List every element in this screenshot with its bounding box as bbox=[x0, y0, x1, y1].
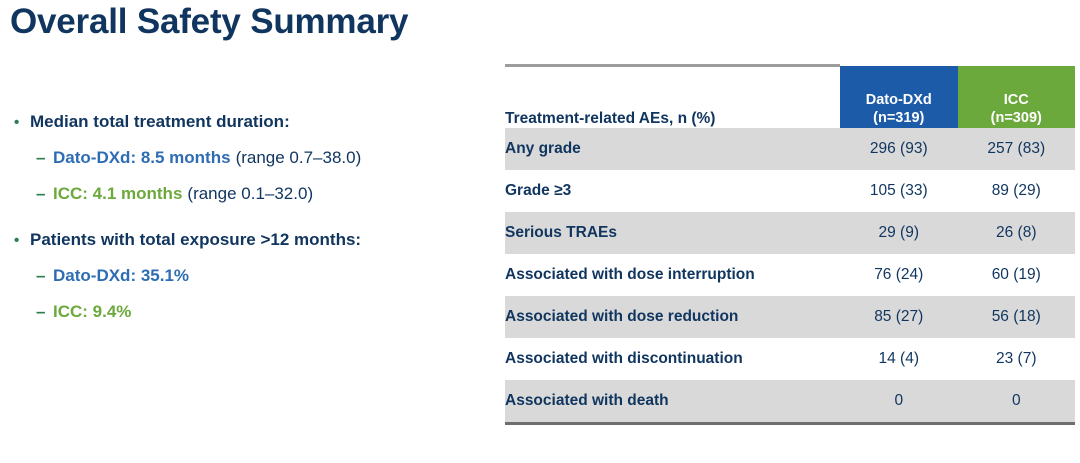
table-row: Serious TRAEs29 (9)26 (8) bbox=[505, 212, 1075, 254]
bullet-dot-icon: • bbox=[14, 233, 30, 248]
table-row: Any grade296 (93)257 (83) bbox=[505, 128, 1075, 170]
cell-dato-dxd: 14 (4) bbox=[840, 338, 958, 380]
sub-bullet-label: ICC: 9.4% bbox=[53, 302, 131, 322]
sub-bullet-dash-icon: – bbox=[36, 266, 53, 286]
row-label: Associated with death bbox=[505, 380, 840, 424]
cell-icc: 23 (7) bbox=[958, 338, 1076, 380]
treatment-related-ae-table: Treatment-related AEs, n (%) Dato-DXd (n… bbox=[505, 64, 1075, 425]
table-row: Associated with discontinuation14 (4)23 … bbox=[505, 338, 1075, 380]
row-label: Associated with dose interruption bbox=[505, 254, 840, 296]
summary-bullet-list: •Median total treatment duration:–Dato-D… bbox=[14, 112, 484, 322]
sub-bullet-item: –ICC: 9.4% bbox=[36, 302, 484, 322]
table-row: Associated with death00 bbox=[505, 380, 1075, 424]
sub-bullet-item: –ICC: 4.1 months(range 0.1–32.0) bbox=[36, 184, 484, 204]
bullet-group: •Patients with total exposure >12 months… bbox=[14, 230, 484, 322]
table-row: Associated with dose interruption76 (24)… bbox=[505, 254, 1075, 296]
cell-icc: 60 (19) bbox=[958, 254, 1076, 296]
sub-bullet-dash-icon: – bbox=[36, 148, 53, 168]
cell-icc: 257 (83) bbox=[958, 128, 1076, 170]
bullet-group: •Median total treatment duration:–Dato-D… bbox=[14, 112, 484, 204]
cell-icc: 26 (8) bbox=[958, 212, 1076, 254]
cell-dato-dxd: 85 (27) bbox=[840, 296, 958, 338]
cell-icc: 0 bbox=[958, 380, 1076, 424]
row-label: Serious TRAEs bbox=[505, 212, 840, 254]
sub-bullet-dash-icon: – bbox=[36, 302, 53, 322]
row-label: Associated with dose reduction bbox=[505, 296, 840, 338]
row-label: Associated with discontinuation bbox=[505, 338, 840, 380]
sub-bullet-range-note: (range 0.1–32.0) bbox=[187, 184, 313, 204]
arm-name-icc: ICC bbox=[1004, 92, 1029, 108]
cell-dato-dxd: 29 (9) bbox=[840, 212, 958, 254]
table-body: Any grade296 (93)257 (83)Grade ≥3105 (33… bbox=[505, 128, 1075, 424]
column-header-icc: ICC (n=309) bbox=[958, 66, 1076, 128]
arm-n-dato-dxd: (n=319) bbox=[840, 110, 958, 128]
cell-dato-dxd: 296 (93) bbox=[840, 128, 958, 170]
sub-bullet-label: ICC: 4.1 months bbox=[53, 184, 182, 204]
column-header-dato-dxd: Dato-DXd (n=319) bbox=[840, 66, 958, 128]
table-row: Grade ≥3105 (33)89 (29) bbox=[505, 170, 1075, 212]
cell-icc: 56 (18) bbox=[958, 296, 1076, 338]
row-label: Grade ≥3 bbox=[505, 170, 840, 212]
sub-bullet-item: –Dato-DXd: 35.1% bbox=[36, 266, 484, 286]
bullet-text: Median total treatment duration: bbox=[30, 112, 290, 132]
row-label: Any grade bbox=[505, 128, 840, 170]
column-header-ae-label: Treatment-related AEs, n (%) bbox=[505, 66, 840, 128]
sub-bullet-range-note: (range 0.7–38.0) bbox=[236, 148, 362, 168]
arm-n-icc: (n=309) bbox=[958, 110, 1076, 128]
cell-dato-dxd: 0 bbox=[840, 380, 958, 424]
sub-bullet-dash-icon: – bbox=[36, 184, 53, 204]
page-title: Overall Safety Summary bbox=[10, 2, 408, 42]
bullet-text: Patients with total exposure >12 months: bbox=[30, 230, 361, 250]
arm-name-dato-dxd: Dato-DXd bbox=[866, 92, 932, 108]
sub-bullet-item: –Dato-DXd: 8.5 months(range 0.7–38.0) bbox=[36, 148, 484, 168]
bullet-item: •Median total treatment duration: bbox=[14, 112, 484, 132]
sub-bullet-label: Dato-DXd: 35.1% bbox=[53, 266, 189, 286]
cell-dato-dxd: 105 (33) bbox=[840, 170, 958, 212]
bullet-item: •Patients with total exposure >12 months… bbox=[14, 230, 484, 250]
table-row: Associated with dose reduction85 (27)56 … bbox=[505, 296, 1075, 338]
table-header: Treatment-related AEs, n (%) Dato-DXd (n… bbox=[505, 66, 1075, 128]
cell-dato-dxd: 76 (24) bbox=[840, 254, 958, 296]
sub-bullet-label: Dato-DXd: 8.5 months bbox=[53, 148, 231, 168]
cell-icc: 89 (29) bbox=[958, 170, 1076, 212]
bullet-dot-icon: • bbox=[14, 115, 30, 130]
